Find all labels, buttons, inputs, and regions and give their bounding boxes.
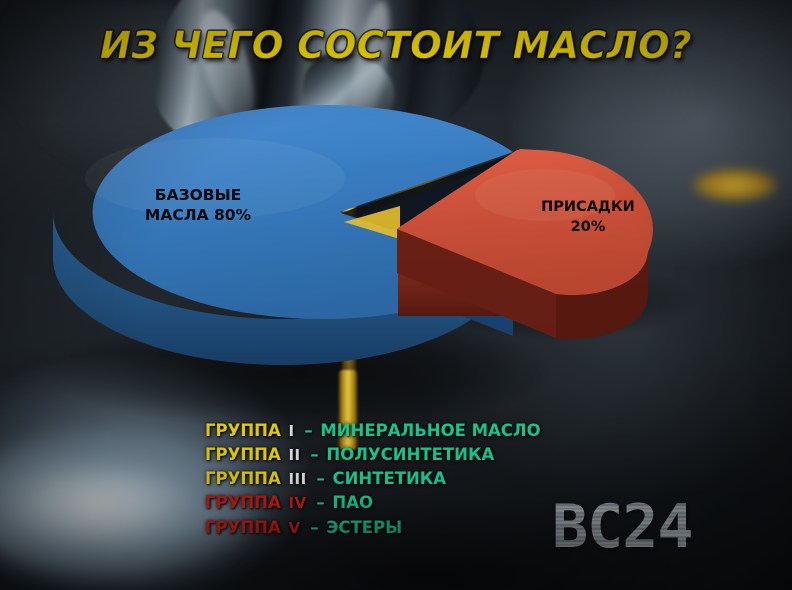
legend-item-group-5[interactable]: ГРУППА V – ЭСТЕРЫ xyxy=(205,518,541,538)
legend-item-3-dash: – xyxy=(316,469,324,488)
base-oils-label-line2: МАСЛА 80% xyxy=(145,206,252,224)
legend-item-5-numeral: V xyxy=(288,519,300,537)
watermark-logo: BC24 xyxy=(552,497,693,557)
legend-item-5-desc: ЭСТЕРЫ xyxy=(326,518,402,537)
legend-item-2-numeral: II xyxy=(288,446,300,464)
base-oils-label-line1: БАЗОВЫЕ xyxy=(155,186,241,204)
legend-item-3-desc: СИНТЕТИКА xyxy=(332,469,446,488)
legend-item-1-numeral: I xyxy=(288,422,294,440)
legend-item-group-2[interactable]: ГРУППА II – ПОЛУСИНТЕТИКА xyxy=(205,445,541,465)
legend-item-2-dash: – xyxy=(310,445,318,464)
infographic-canvas: ИЗ ЧЕГО СОСТОИТ МАСЛО? xyxy=(0,0,792,590)
additives-label-line2: 20% xyxy=(571,219,606,235)
legend-item-5-dash: – xyxy=(310,518,318,537)
legend-item-4-name: ГРУППА xyxy=(205,493,281,512)
legend-item-5-name: ГРУППА xyxy=(205,518,281,537)
legend-item-1-name: ГРУППА xyxy=(205,421,281,440)
legend-item-1-desc: МИНЕРАЛЬНОЕ МАСЛО xyxy=(320,421,540,440)
legend-item-3-numeral: III xyxy=(288,470,306,488)
legend-item-1-dash: – xyxy=(304,421,312,440)
legend-item-4-numeral: IV xyxy=(288,494,306,512)
legend-item-3-name: ГРУППА xyxy=(205,469,281,488)
legend-item-2-name: ГРУППА xyxy=(205,445,281,464)
legend-item-group-1[interactable]: ГРУППА I – МИНЕРАЛЬНОЕ МАСЛО xyxy=(205,421,541,441)
legend-item-2-desc: ПОЛУСИНТЕТИКА xyxy=(326,445,494,464)
legend-item-4-desc: ПАО xyxy=(332,493,373,512)
additives-label-line1: ПРИСАДКИ xyxy=(541,199,635,215)
legend-item-4-dash: – xyxy=(316,493,324,512)
legend-item-group-3[interactable]: ГРУППА III – СИНТЕТИКА xyxy=(205,469,541,489)
legend-item-group-4[interactable]: ГРУППА IV – ПАО xyxy=(205,493,541,513)
legend: ГРУППА I – МИНЕРАЛЬНОЕ МАСЛО ГРУППА II –… xyxy=(205,421,541,538)
